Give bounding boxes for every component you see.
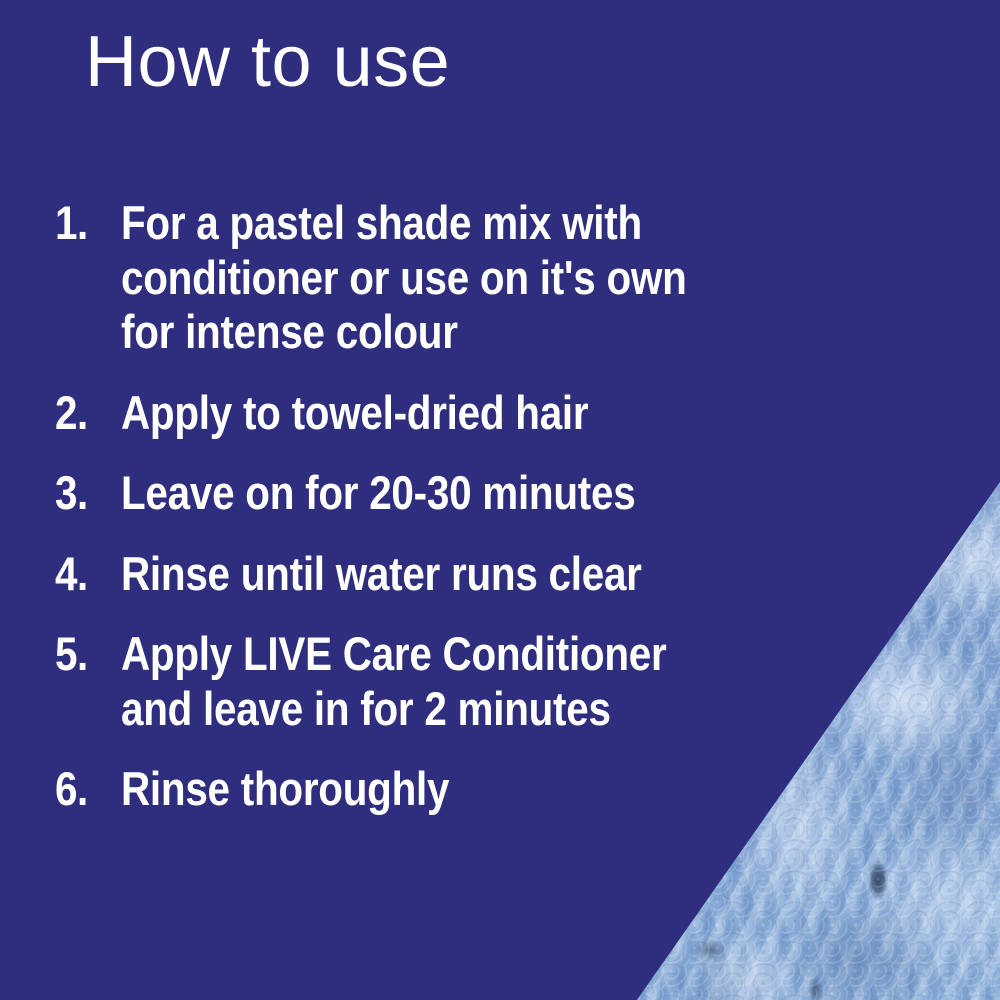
step-number: 5. <box>55 627 112 682</box>
step-text: Rinse until water runs clear <box>121 547 744 602</box>
step-number: 6. <box>55 762 112 817</box>
step-number: 4. <box>55 547 112 602</box>
list-item: 1. For a pastel shade mix with condition… <box>55 196 845 360</box>
list-item: 2. Apply to towel-dried hair <box>55 386 845 441</box>
step-text: Apply to towel-dried hair <box>121 386 744 441</box>
step-text: Apply LIVE Care Conditioner and leave in… <box>121 627 744 736</box>
list-item: 6. Rinse thoroughly <box>55 762 845 817</box>
list-item: 5. Apply LIVE Care Conditioner and leave… <box>55 627 845 736</box>
step-text: Leave on for 20-30 minutes <box>121 466 744 521</box>
instruction-list: 1. For a pastel shade mix with condition… <box>55 196 845 843</box>
step-number: 2. <box>55 386 112 441</box>
list-item: 3. Leave on for 20-30 minutes <box>55 466 845 521</box>
step-number: 1. <box>55 196 112 251</box>
step-number: 3. <box>55 466 112 521</box>
page-title: How to use <box>85 26 450 98</box>
step-text: For a pastel shade mix with conditioner … <box>121 196 744 360</box>
product-instructions-panel: How to use 1. For a pastel shade mix wit… <box>0 0 1000 1000</box>
list-item: 4. Rinse until water runs clear <box>55 547 845 602</box>
step-text: Rinse thoroughly <box>121 762 744 817</box>
